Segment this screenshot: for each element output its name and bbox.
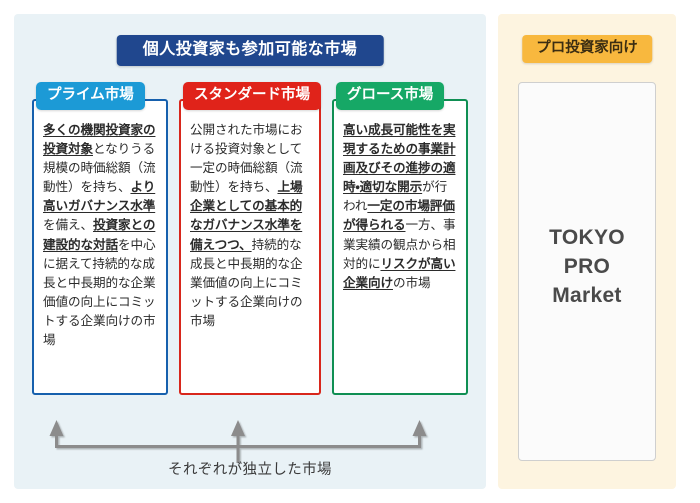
tokyo-pro-market-card[interactable]: TOKYO PRO Market	[518, 82, 656, 461]
body-phrase: の市場	[393, 276, 430, 290]
market-tab-standard[interactable]: スタンダード市場	[183, 82, 321, 110]
market-structure-diagram: 個人投資家も参加可能な市場 プライム市場 多くの機関投資家の投資対象となりうる規…	[0, 0, 700, 503]
body-phrase: を備え、	[43, 218, 93, 232]
market-description-prime: 多くの機関投資家の投資対象となりうる規模の時価総額（流動性）を持ち、より高いガバ…	[32, 99, 168, 395]
tokyo-pro-market-line-3: Market	[549, 282, 625, 311]
independence-caption: それぞれが独立した市場	[14, 458, 486, 479]
market-column-growth: グロース市場 高い成長可能性を実現するための事業計画及びその進捗の適時・適切な開…	[332, 82, 468, 395]
market-tab-growth[interactable]: グロース市場	[336, 82, 444, 110]
market-columns: プライム市場 多くの機関投資家の投資対象となりうる規模の時価総額（流動性）を持ち…	[32, 82, 468, 395]
pro-market-panel: プロ投資家向け TOKYO PRO Market	[498, 14, 676, 489]
market-description-growth: 高い成長可能性を実現するための事業計画及びその進捗の適時・適切な開示が行われ一定…	[332, 99, 468, 395]
body-phrase: を中心に据えて持続的な成長と中長期的な企業価値の向上にコミットする企業向けの市場	[43, 238, 155, 348]
retail-section-banner: 個人投資家も参加可能な市場	[117, 35, 384, 66]
tokyo-pro-market-label: TOKYO PRO Market	[549, 224, 625, 311]
retail-markets-panel: 個人投資家も参加可能な市場 プライム市場 多くの機関投資家の投資対象となりうる規…	[14, 14, 486, 489]
market-tab-prime[interactable]: プライム市場	[36, 82, 145, 110]
market-column-prime: プライム市場 多くの機関投資家の投資対象となりうる規模の時価総額（流動性）を持ち…	[32, 82, 168, 395]
tokyo-pro-market-line-2: PRO	[549, 253, 625, 282]
pro-section-banner: プロ投資家向け	[522, 35, 652, 63]
market-column-standard: スタンダード市場 公開された市場における投資対象として一定の時価総額（流動性）を…	[179, 82, 321, 395]
market-description-standard: 公開された市場における投資対象として一定の時価総額（流動性）を持ち、上場企業とし…	[179, 99, 321, 395]
tokyo-pro-market-line-1: TOKYO	[549, 224, 625, 253]
